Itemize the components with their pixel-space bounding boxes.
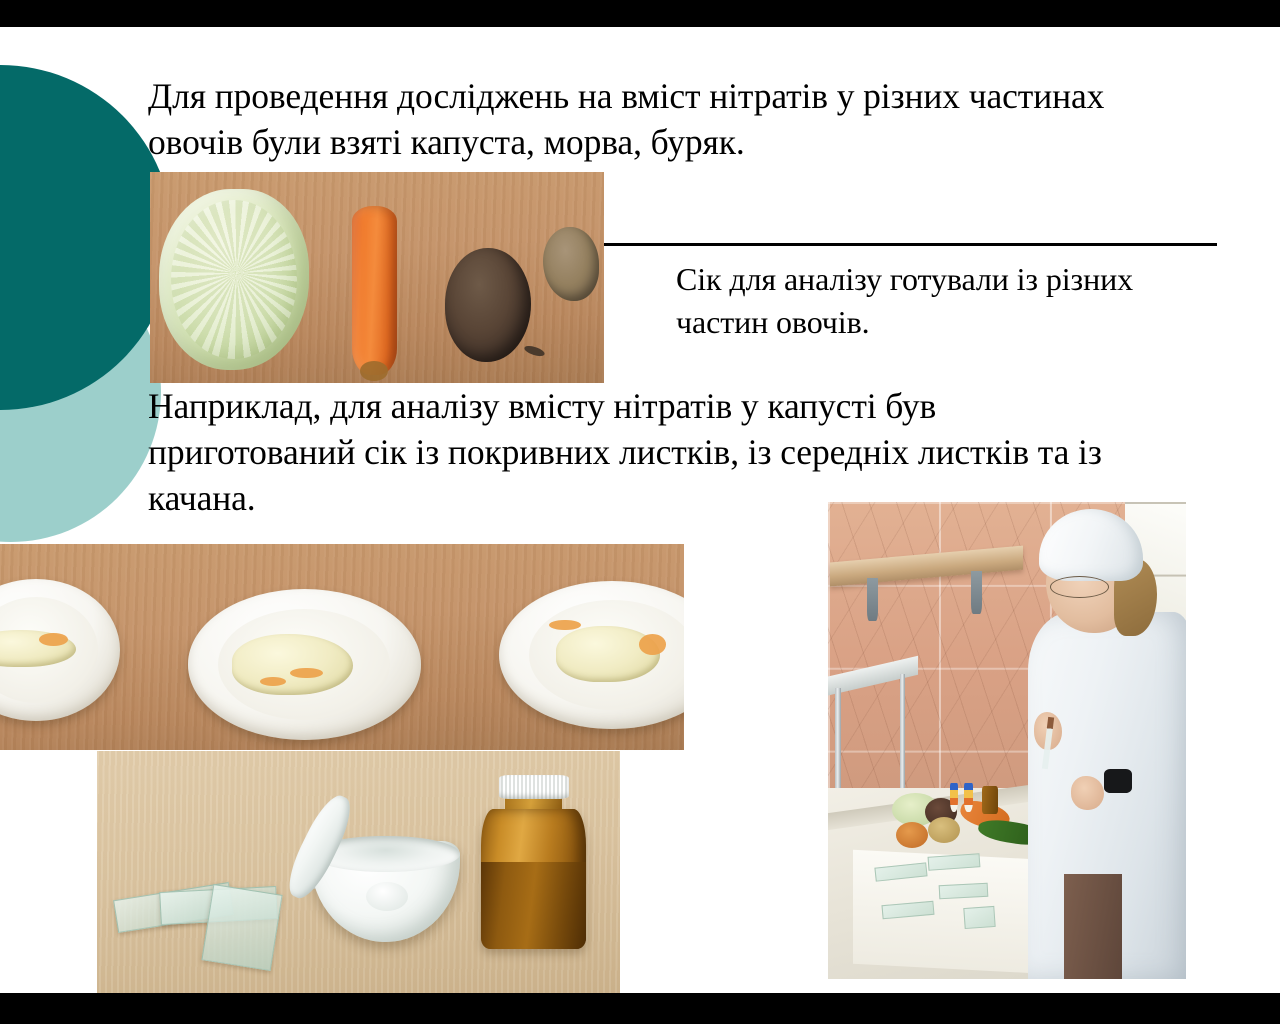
carrot-shred — [549, 620, 581, 630]
shelf-bracket — [971, 571, 982, 614]
shredded-cabbage — [232, 634, 353, 694]
shredded-cabbage — [556, 626, 660, 682]
photo-student-in-laboratory — [828, 502, 1186, 979]
carrot-shred — [39, 633, 67, 646]
reagent-bottle-object — [481, 809, 586, 949]
letterbox-bar-bottom — [0, 993, 1280, 1024]
photo-mortar-and-reagent — [97, 751, 620, 993]
student-hand — [1071, 776, 1103, 809]
potato-object — [543, 227, 600, 301]
letterbox-bar-top — [0, 0, 1280, 27]
test-tube-object — [964, 783, 973, 812]
microscope-slide-object — [939, 882, 988, 899]
small-reagent-bottle-object — [982, 786, 998, 815]
microscope-slide-object — [201, 884, 282, 971]
mini-onion-object — [896, 822, 928, 848]
bottle-cap — [499, 775, 570, 799]
pestle-head — [366, 882, 408, 911]
cabbage-head-object — [159, 189, 309, 370]
plate-object — [188, 589, 421, 739]
student-skirt — [1064, 874, 1121, 979]
shelf-bracket — [867, 578, 878, 621]
metal-stand-leg — [835, 688, 841, 793]
reagent-liquid — [481, 862, 586, 949]
carrot-shred — [260, 677, 286, 686]
carrot-shred — [290, 668, 323, 679]
metal-stand-leg — [900, 674, 906, 793]
presentation-slide: Для проведення досліджень на вміст нітра… — [0, 0, 1280, 1024]
photo-vegetables — [150, 172, 604, 383]
student-glasses — [1050, 576, 1109, 598]
photo-plates-with-cabbage — [0, 544, 684, 750]
example-paragraph: Наприклад, для аналізу вмісту нітратів у… — [148, 383, 1128, 521]
wrist-watch — [1104, 769, 1133, 793]
slide-canvas: Для проведення досліджень на вміст нітра… — [0, 27, 1280, 993]
juice-paragraph: Сік для аналізу готували із різних части… — [676, 258, 1196, 344]
intro-paragraph: Для проведення досліджень на вміст нітра… — [148, 73, 1148, 165]
carrot-object — [352, 206, 397, 375]
microscope-slide-object — [963, 906, 995, 929]
test-tube-object — [950, 783, 959, 812]
horizontal-rule-divider — [604, 243, 1217, 246]
